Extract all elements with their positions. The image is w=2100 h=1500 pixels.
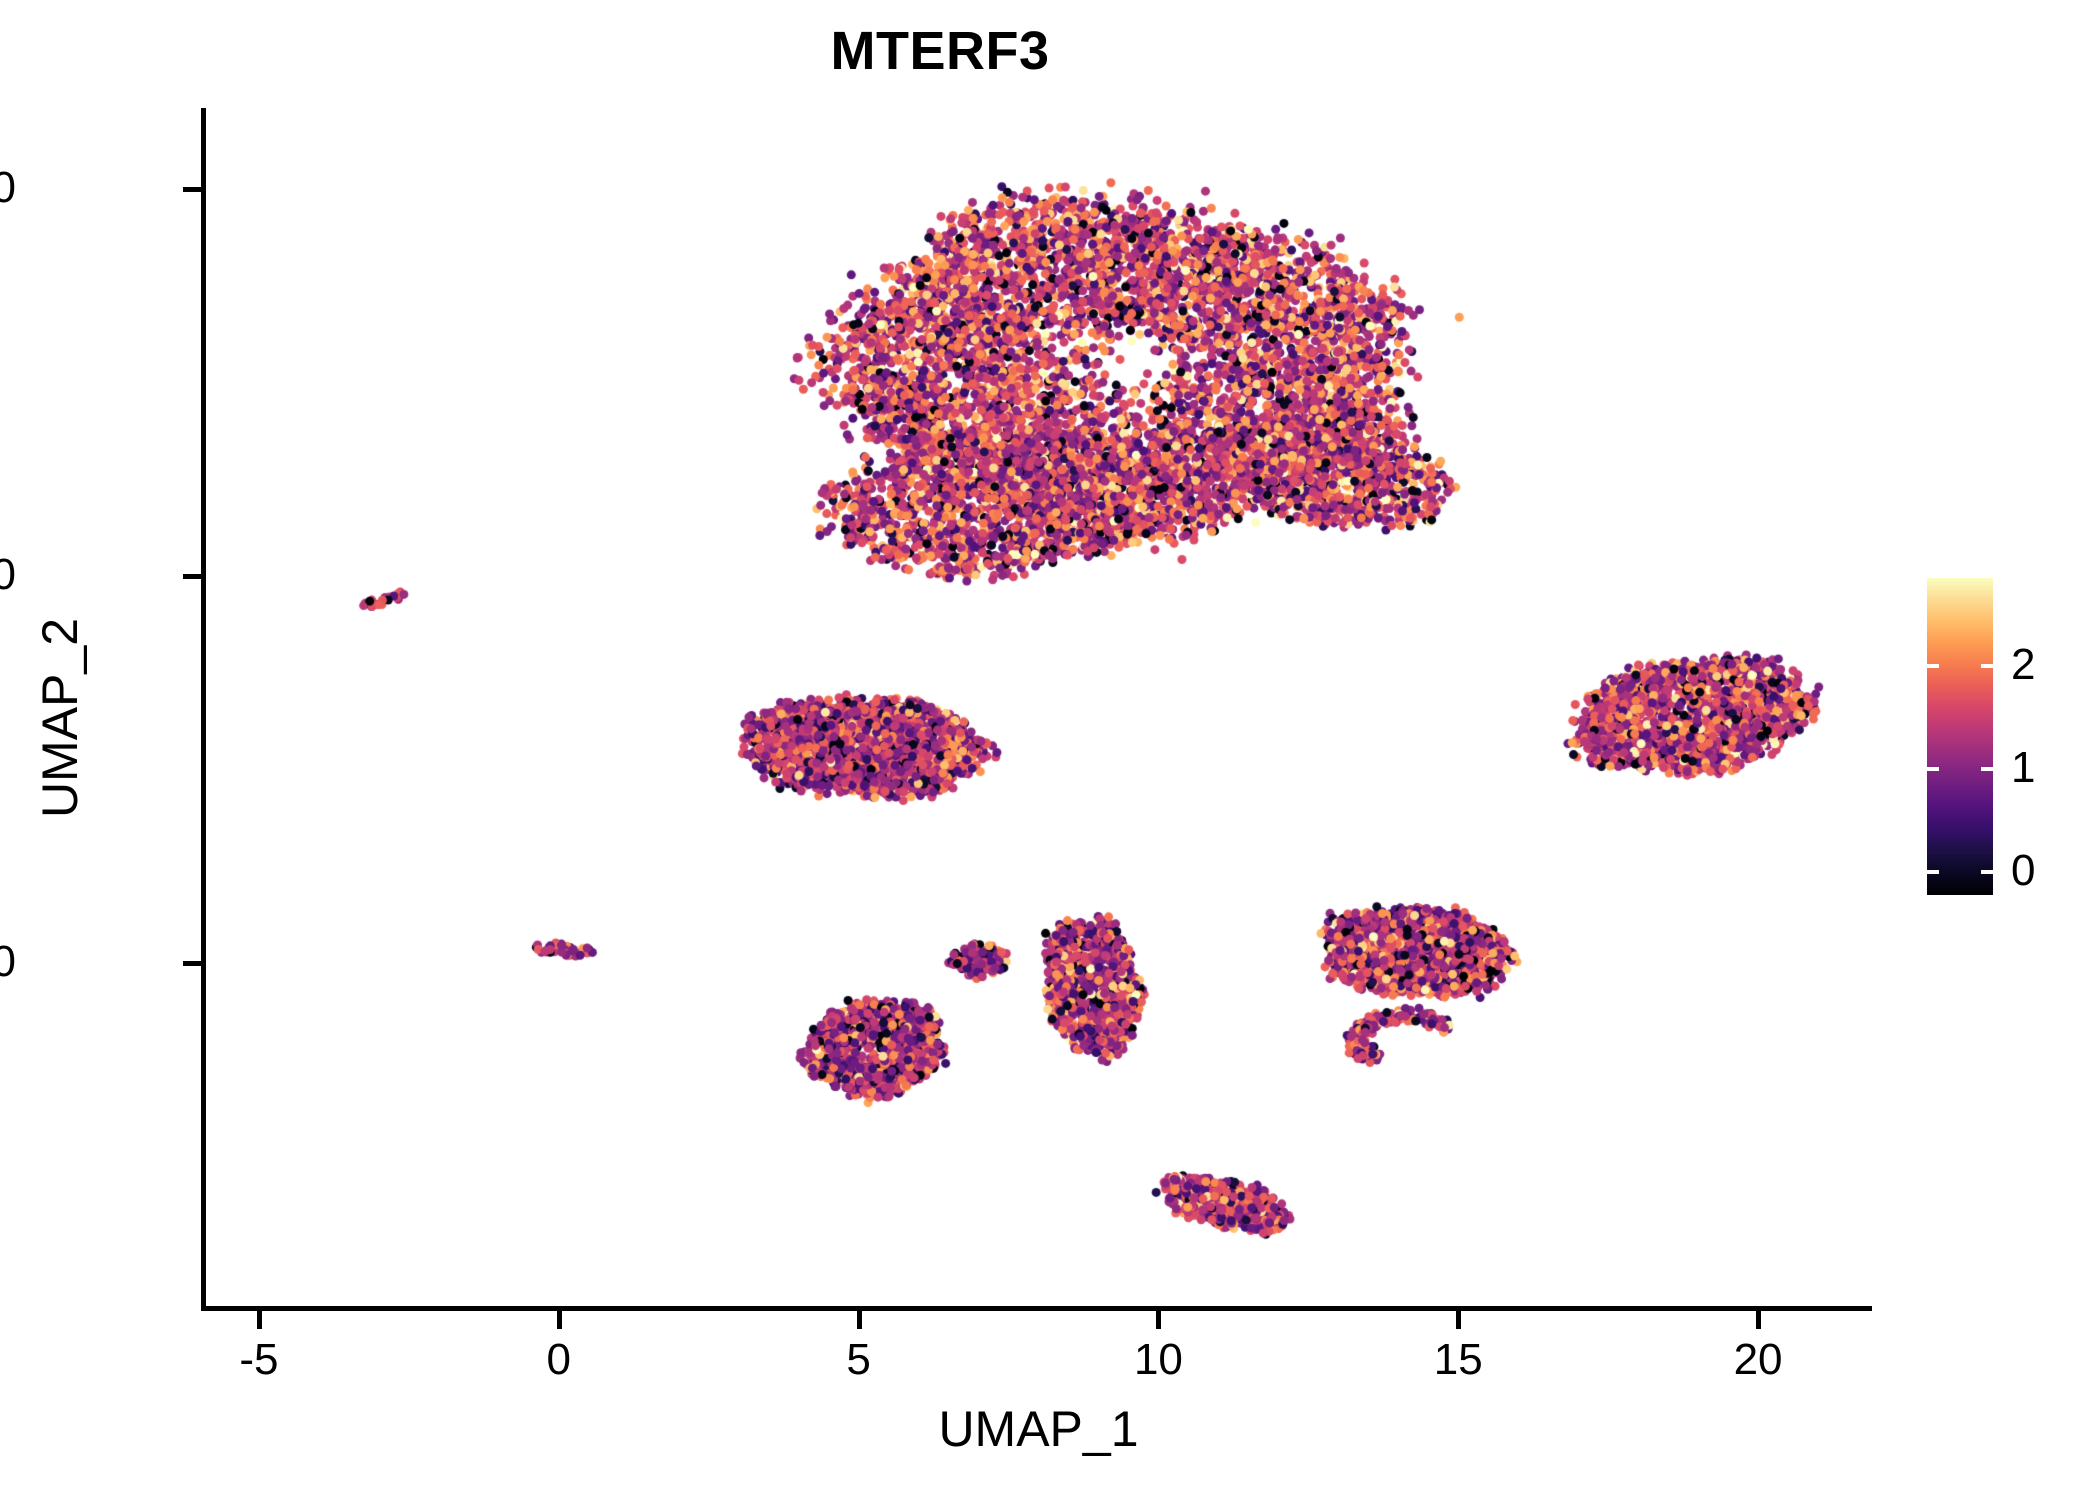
x-tick-label: 5 [759, 1338, 959, 1382]
colorbar-tick-label: 0 [2011, 849, 2035, 893]
x-axis-title: UMAP_1 [205, 1404, 1872, 1454]
x-tick-mark [1756, 1311, 1761, 1329]
colorbar-gradient [1927, 578, 1993, 895]
x-tick-mark [557, 1311, 562, 1329]
x-tick-mark [857, 1311, 862, 1329]
colorbar-tick-mark [1927, 870, 1939, 874]
y-axis-line [201, 108, 206, 1310]
x-tick-label: 0 [459, 1338, 659, 1382]
x-tick-label: 20 [1658, 1338, 1858, 1382]
y-tick-label: 0 [0, 940, 16, 984]
colorbar-tick-mark [1927, 664, 1939, 668]
colorbar-tick-label: 1 [2011, 746, 2035, 790]
scatter-points-canvas [205, 108, 1872, 1308]
colorbar-tick-mark [1981, 767, 1993, 771]
colorbar-tick-mark [1927, 767, 1939, 771]
x-axis-line [201, 1306, 1872, 1311]
colorbar-tick-label: 2 [2011, 643, 2035, 687]
plot-panel [205, 108, 1872, 1308]
colorbar-tick-mark [1981, 870, 1993, 874]
x-tick-label: -5 [159, 1338, 359, 1382]
y-tick-label: 20 [0, 166, 16, 210]
x-tick-label: 15 [1358, 1338, 1558, 1382]
page-title: MTERF3 [0, 24, 1880, 78]
y-tick-mark [183, 574, 201, 579]
x-tick-mark [1456, 1311, 1461, 1329]
x-tick-mark [257, 1311, 262, 1329]
x-tick-label: 10 [1058, 1338, 1258, 1382]
y-axis-title: UMAP_2 [35, 118, 85, 1318]
umap-feature-plot: MTERF3 01020 -505101520 UMAP_1 UMAP_2 01… [0, 0, 2100, 1500]
y-tick-label: 10 [0, 553, 16, 597]
x-tick-mark [1156, 1311, 1161, 1329]
y-tick-mark [183, 961, 201, 966]
colorbar-tick-mark [1981, 664, 1993, 668]
colorbar-legend: 012 [1927, 578, 2097, 898]
y-tick-mark [183, 187, 201, 192]
